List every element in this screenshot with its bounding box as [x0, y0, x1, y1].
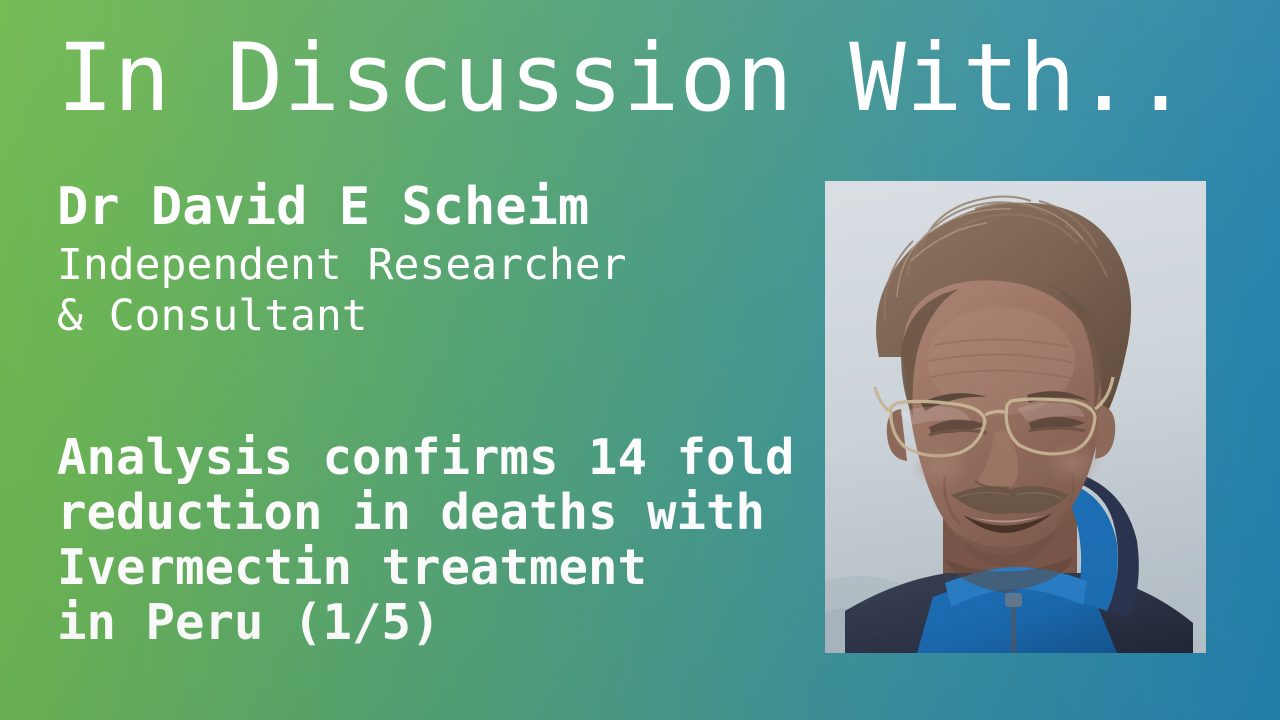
headline-line-1: Analysis confirms 14 fold [57, 431, 795, 486]
headline-block: Analysis confirms 14 fold reduction in d… [57, 431, 795, 651]
speaker-info: Dr David E Scheim Independent Researcher… [57, 178, 627, 341]
speaker-name: Dr David E Scheim [57, 178, 627, 237]
portrait-illustration [825, 181, 1206, 653]
page-title: In Discussion With.. [57, 32, 1189, 126]
speaker-role-line-2: & Consultant [57, 291, 627, 341]
headline-line-3: Ivermectin treatment [57, 541, 795, 596]
speaker-portrait [825, 181, 1206, 653]
headline-line-2: reduction in deaths with [57, 486, 795, 541]
video-title-slide: In Discussion With.. Dr David E Scheim I… [0, 0, 1280, 720]
headline-line-4: in Peru (1/5) [57, 596, 795, 651]
speaker-role-line-1: Independent Researcher [57, 240, 627, 290]
